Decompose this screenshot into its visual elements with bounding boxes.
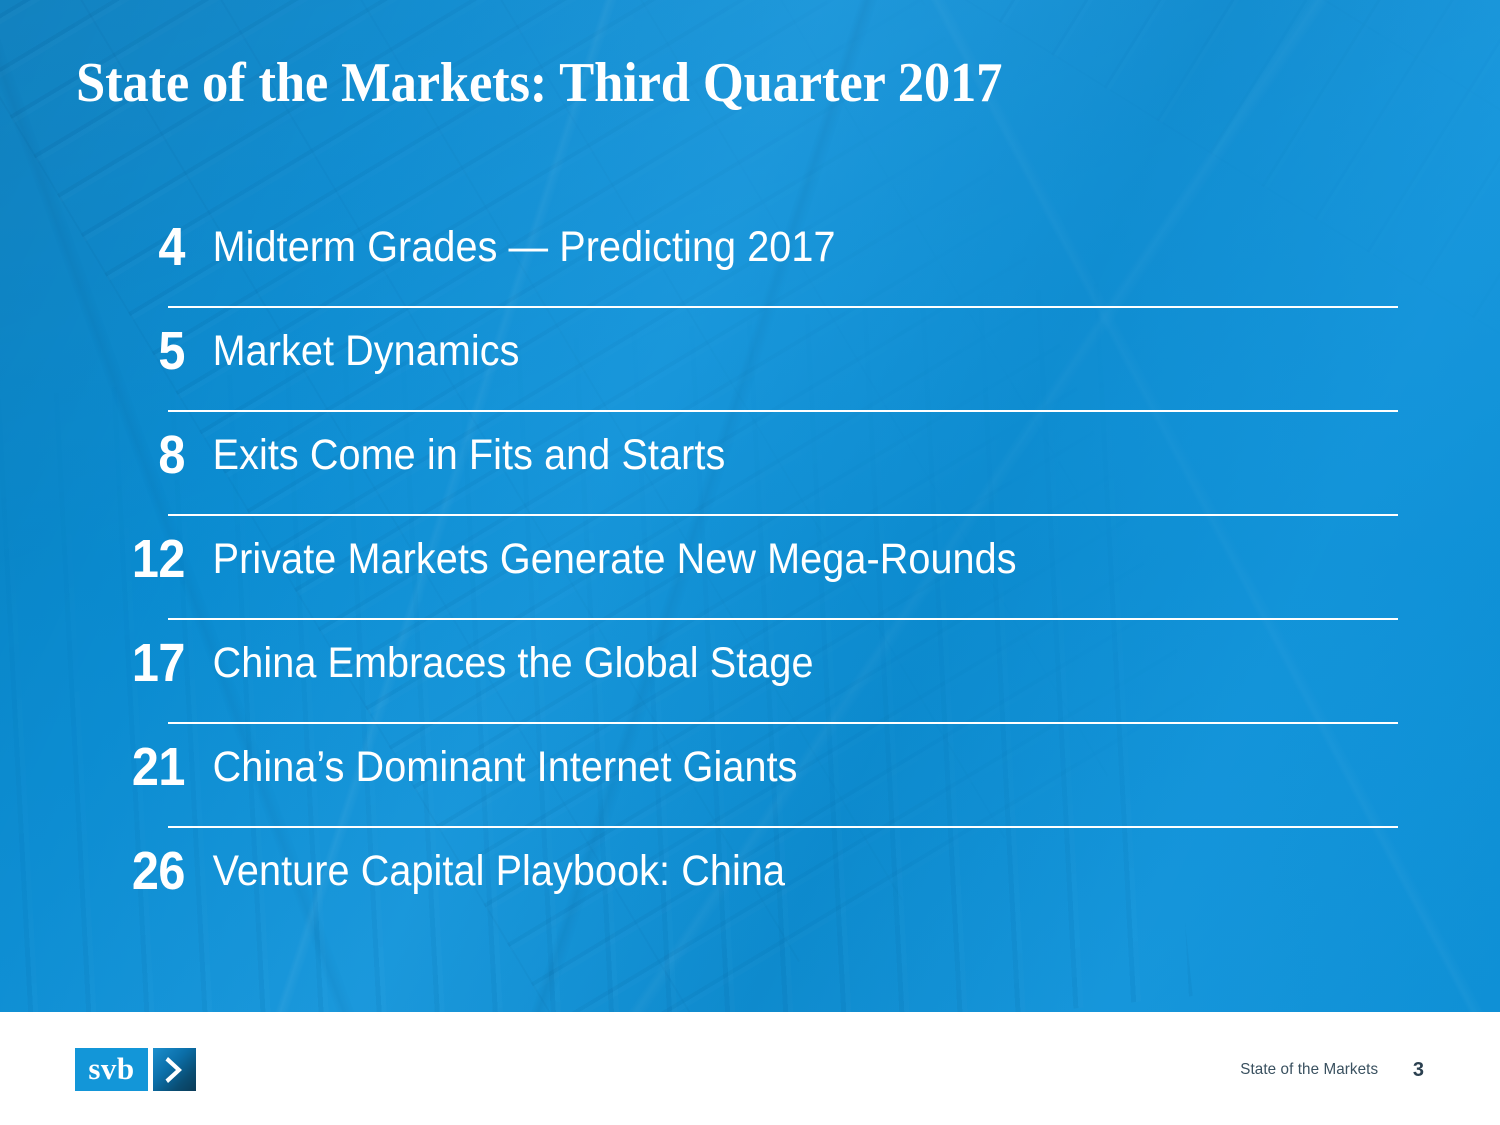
toc-page-number: 5 [19,318,186,384]
toc-page-number: 21 [19,734,186,800]
toc-entry[interactable]: 5 Market Dynamics [0,318,1500,422]
toc-entry[interactable]: 8 Exits Come in Fits and Starts [0,422,1500,526]
toc-entry[interactable]: 4 Midterm Grades — Predicting 2017 [0,214,1500,318]
svb-wordmark: svb [88,1053,134,1084]
toc-page-number: 26 [19,838,186,904]
page-title: State of the Markets: Third Quarter 2017 [76,52,1002,114]
toc-entry[interactable]: 21 China’s Dominant Internet Giants [0,734,1500,838]
toc-entry-label: China’s Dominant Internet Giants [185,734,798,800]
slide: State of the Markets: Third Quarter 2017… [0,0,1500,1125]
toc-divider [168,514,1398,516]
toc-entry[interactable]: 26 Venture Capital Playbook: China [0,838,1500,942]
toc-divider [168,722,1398,724]
svb-logo[interactable]: svb [75,1048,196,1091]
toc-page-number: 17 [19,630,186,696]
toc-entry-label: Private Markets Generate New Mega-Rounds [185,526,1017,592]
toc-entry-label: Market Dynamics [185,318,520,384]
hero-background: State of the Markets: Third Quarter 2017… [0,0,1500,1012]
toc-entry-label: Venture Capital Playbook: China [185,838,785,904]
toc-divider [168,618,1398,620]
toc-entry[interactable]: 12 Private Markets Generate New Mega-Rou… [0,526,1500,630]
slide-footer: svb State of the Markets 3 [0,1012,1500,1125]
footer-deck-name: State of the Markets [1240,1060,1378,1080]
toc-divider [168,410,1398,412]
toc-entry-label: Exits Come in Fits and Starts [185,422,725,488]
footer-page-number: 3 [1413,1058,1424,1082]
table-of-contents: 4 Midterm Grades — Predicting 2017 5 Mar… [0,214,1500,942]
toc-divider [168,306,1398,308]
svb-logo-square: svb [75,1048,148,1091]
toc-page-number: 8 [19,422,186,488]
chevron-right-icon [153,1048,196,1091]
toc-page-number: 4 [19,214,186,280]
toc-entry-label: China Embraces the Global Stage [185,630,814,696]
toc-entry[interactable]: 17 China Embraces the Global Stage [0,630,1500,734]
toc-divider [168,826,1398,828]
toc-entry-label: Midterm Grades — Predicting 2017 [185,214,836,280]
toc-page-number: 12 [19,526,186,592]
